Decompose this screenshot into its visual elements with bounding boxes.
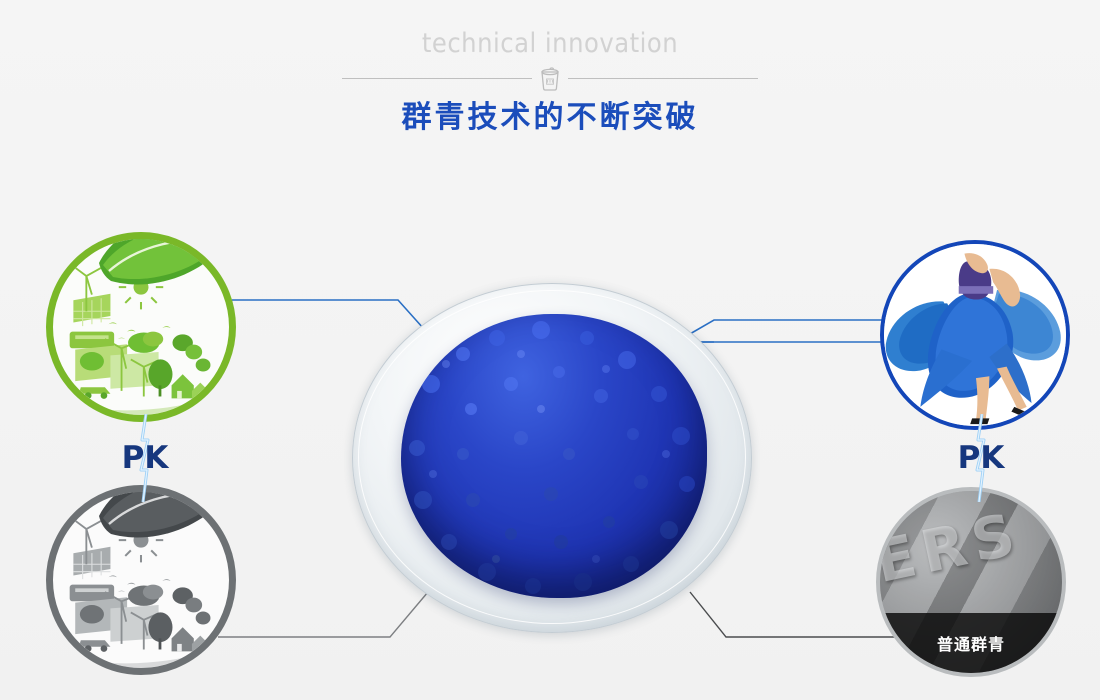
ordinary-caption-band: 普通群青 xyxy=(880,613,1062,673)
dancer-illustration xyxy=(884,244,1066,426)
gray-environment-circle xyxy=(46,485,236,675)
connector-bottom-right xyxy=(690,592,896,637)
green-leaf-icon xyxy=(93,232,236,321)
glass-dish xyxy=(352,283,752,633)
pk-text-right: PK xyxy=(936,428,1026,488)
pk-text-left: PK xyxy=(100,428,190,488)
pk-badge-right: PK xyxy=(936,428,1026,488)
connector-top-right-path xyxy=(676,320,884,342)
pk-badge-left: PK xyxy=(100,428,190,488)
ordinary-ultramarine-circle: ERS 普通群青 xyxy=(876,487,1066,677)
ordinary-caption-text: 普通群青 xyxy=(937,631,1005,655)
house-icons-gray xyxy=(172,627,209,655)
blue-dress-dancer-circle xyxy=(880,240,1070,430)
gray-leaf-icon xyxy=(93,485,236,574)
house-icons xyxy=(172,374,209,402)
car-icon xyxy=(79,387,110,399)
connector-bottom-left xyxy=(218,592,428,637)
car-icon-gray xyxy=(79,640,110,652)
powder-grain-texture xyxy=(401,314,707,598)
infographic-stage: technical innovation 群青技术的不断突破 xyxy=(0,0,1100,700)
ultramarine-powder xyxy=(401,314,707,598)
eco-green-circle xyxy=(46,232,236,422)
